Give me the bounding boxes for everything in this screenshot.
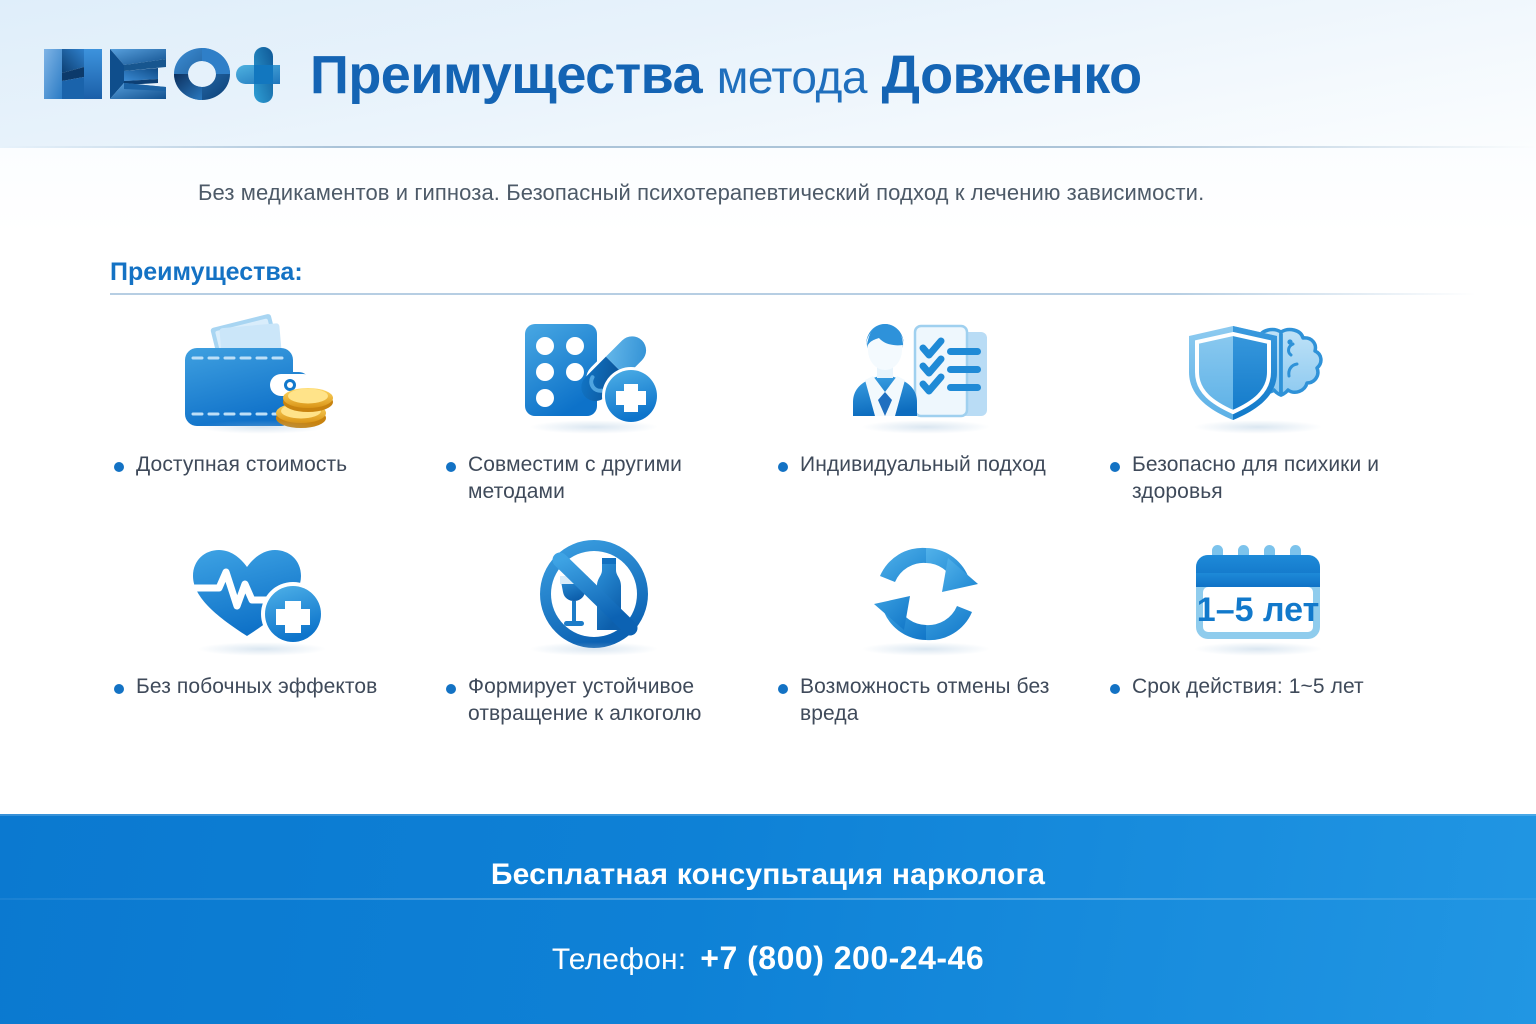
icon-shadow — [197, 642, 327, 656]
phone-number[interactable]: +7 (800) 200-24-46 — [700, 940, 984, 977]
shield-brain-icon — [1092, 310, 1424, 438]
benefit-label-row: Формирует устойчивое отвращение к алкого… — [428, 674, 760, 728]
footer-headline: Бесплатная консупьтация нарколога — [491, 858, 1045, 892]
icon-shadow — [197, 420, 327, 434]
calendar-badge-text: 1–5 лет — [1197, 591, 1319, 629]
bullet-icon — [114, 684, 124, 694]
benefit-label: Доступная стоимость — [136, 452, 347, 479]
bullet-icon — [778, 462, 788, 472]
benefit-label-row: Индивидуальный подход — [760, 452, 1046, 479]
subtitle-text: Без медикаментов и гипноза. Безопасный п… — [198, 180, 1204, 206]
benefit-label-row: Возможность отмены без вреда — [760, 674, 1092, 728]
bullet-icon — [446, 684, 456, 694]
brand-logo — [40, 37, 280, 111]
title-part-bold-1: Преимущества — [310, 45, 702, 105]
bullet-icon — [446, 462, 456, 472]
benefit-label-row: Доступная стоимость — [96, 452, 347, 479]
pills-blister-capsule-plus-icon — [428, 310, 760, 438]
benefit-item-safe: Безопасно для психики и здоровья — [1092, 310, 1424, 532]
footer-cta: Бесплатная консупьтация нарколога Телефо… — [0, 814, 1536, 1024]
icon-shadow — [861, 420, 991, 434]
header-bar: Преимущества метода Довженко — [0, 0, 1536, 148]
no-alcohol-icon — [428, 532, 760, 660]
benefit-label: Безопасно для психики и здоровья — [1132, 452, 1424, 506]
wallet-coins-icon — [96, 310, 428, 438]
icon-shadow — [529, 642, 659, 656]
bullet-icon — [114, 462, 124, 472]
benefit-item-duration: 1–5 лет Срок действия: 1~5 лет — [1092, 532, 1424, 754]
benefit-item-aversion: Формирует устойчивое отвращение к алкого… — [428, 532, 760, 754]
benefit-item-reversible: Возможность отмены без вреда — [760, 532, 1092, 754]
calendar-icon: 1–5 лет — [1092, 532, 1424, 660]
infographic-poster: Преимущества метода Довженко Без медикам… — [0, 0, 1536, 1024]
section-divider — [110, 293, 1476, 295]
benefit-item-compatible: Совместим с другими методами — [428, 310, 760, 532]
icon-shadow — [1193, 420, 1323, 434]
icon-shadow — [529, 420, 659, 434]
benefit-label-row: Без побочных эффектов — [96, 674, 377, 701]
benefit-label-row: Совместим с другими методами — [428, 452, 760, 506]
subtitle-band: Без медикаментов и гипноза. Безопасный п… — [0, 148, 1536, 234]
doctor-checklist-icon — [760, 310, 1092, 438]
benefit-label-row: Безопасно для психики и здоровья — [1092, 452, 1424, 506]
benefit-label-row: Срок действия: 1~5 лет — [1092, 674, 1364, 701]
page-title: Преимущества метода Довженко — [310, 48, 1142, 102]
title-part-light: метода — [717, 51, 867, 103]
bullet-icon — [1110, 684, 1120, 694]
benefits-grid: Доступная стоимость — [96, 310, 1426, 754]
benefit-label: Возможность отмены без вреда — [800, 674, 1092, 728]
icon-shadow — [861, 642, 991, 656]
benefit-item-cost: Доступная стоимость — [96, 310, 428, 532]
benefit-label: Совместим с другими методами — [468, 452, 760, 506]
title-part-bold-2: Довженко — [881, 45, 1141, 105]
footer-divider — [0, 898, 1536, 900]
benefit-item-no-side-effects: Без побочных эффектов — [96, 532, 428, 754]
refresh-arrows-icon — [760, 532, 1092, 660]
footer-phone-row: Телефон: +7 (800) 200-24-46 — [552, 940, 984, 977]
section-title: Преимущества: — [110, 258, 321, 287]
phone-label: Телефон: — [552, 943, 686, 977]
benefit-label: Индивидуальный подход — [800, 452, 1046, 479]
benefit-item-individual: Индивидуальный подход — [760, 310, 1092, 532]
bullet-icon — [1110, 462, 1120, 472]
section-header: Преимущества: — [0, 258, 1536, 304]
heart-pulse-plus-icon — [96, 532, 428, 660]
benefit-label: Формирует устойчивое отвращение к алкого… — [468, 674, 760, 728]
benefit-label: Срок действия: 1~5 лет — [1132, 674, 1364, 701]
bullet-icon — [778, 684, 788, 694]
icon-shadow — [1193, 642, 1323, 656]
benefit-label: Без побочных эффектов — [136, 674, 377, 701]
neo-plus-logo-icon — [40, 37, 280, 111]
